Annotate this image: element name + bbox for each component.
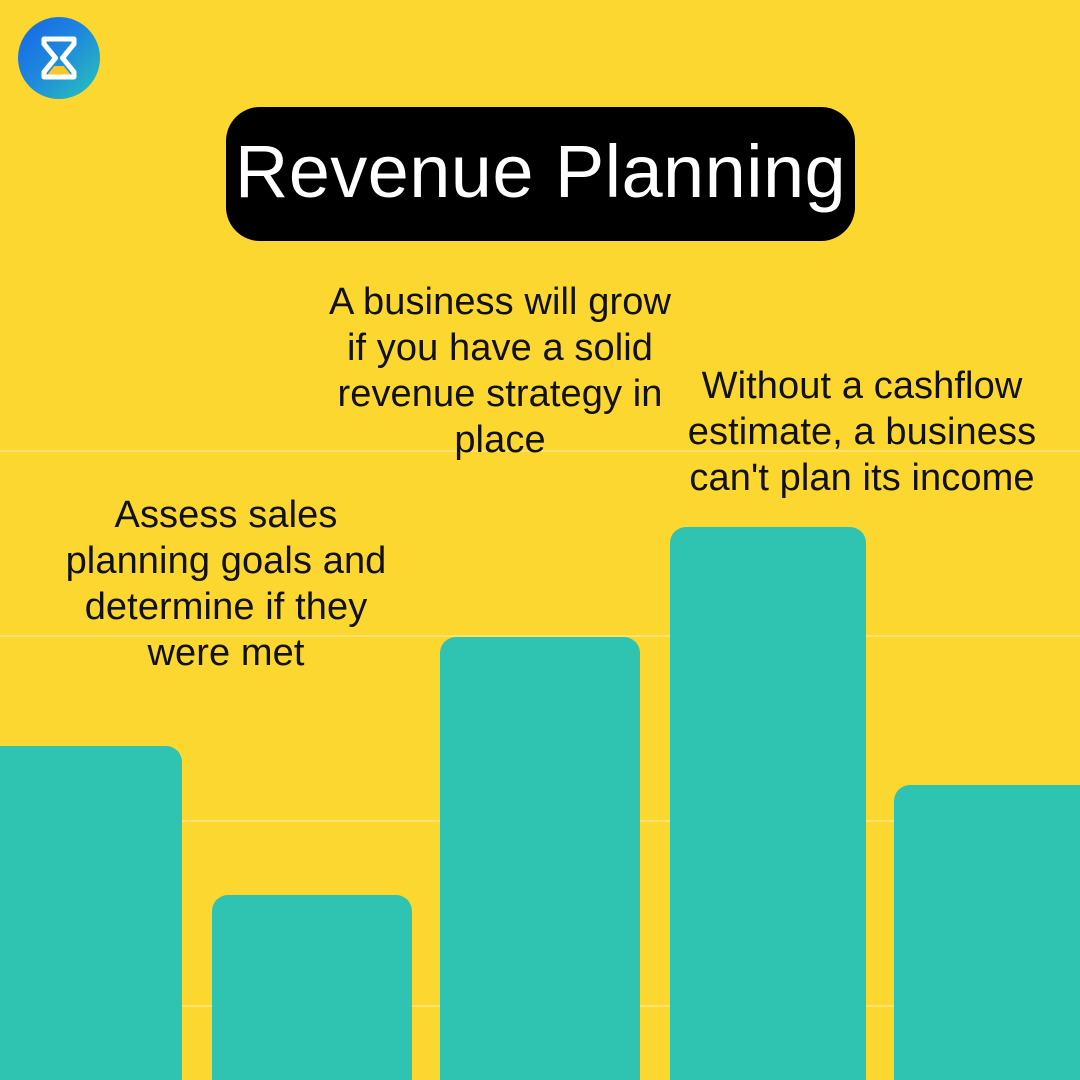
hourglass-icon: [18, 17, 100, 99]
brand-logo[interactable]: [18, 17, 100, 99]
bar-5: [894, 785, 1080, 1080]
page-title-pill: Revenue Planning: [226, 107, 855, 241]
callout-assess-sales-goals: Assess sales planning goals and determin…: [54, 492, 398, 676]
callout-business-will-grow: A business will grow if you have a solid…: [328, 279, 672, 463]
page-title: Revenue Planning: [235, 135, 846, 209]
callout-cashflow-estimate: Without a cashflow estimate, a business …: [680, 363, 1044, 501]
infographic-canvas: Revenue Planning Assess sales planning g…: [0, 0, 1080, 1080]
bar-1: [0, 746, 182, 1080]
bar-3: [440, 637, 640, 1080]
bar-4: [670, 527, 866, 1080]
bar-2: [212, 895, 412, 1080]
